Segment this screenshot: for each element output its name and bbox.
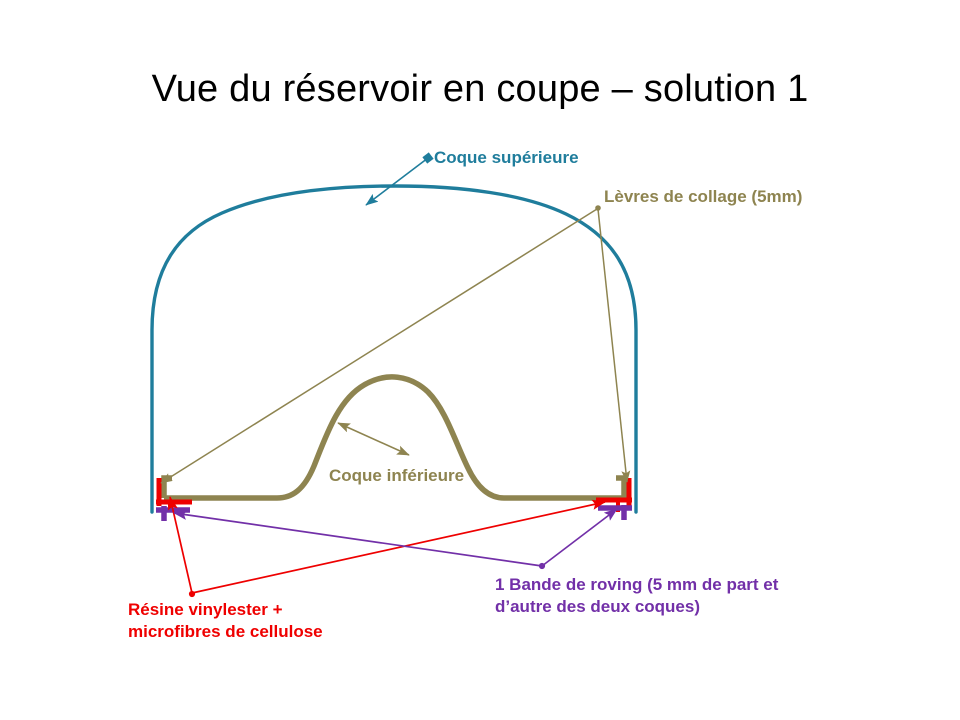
diagram-canvas: Vue du réservoir en coupe – solution 1 xyxy=(0,0,960,720)
leader-levres-collage xyxy=(161,205,627,483)
label-roving-line-1: 1 Bande de roving (5 mm de part et xyxy=(495,574,885,596)
label-levres-de-collage: Lèvres de collage (5mm) xyxy=(604,186,802,208)
label-bande-de-roving: 1 Bande de roving (5 mm de part et d’aut… xyxy=(495,574,885,619)
joint-detail-right xyxy=(596,478,632,520)
label-resine-line-1: Résine vinylester + xyxy=(128,599,428,621)
label-resine-line-2: microfibres de cellulose xyxy=(128,621,428,643)
leader-coque-inferieure xyxy=(338,423,409,455)
coque-superieure-shape xyxy=(152,186,636,512)
leader-coque-superieure xyxy=(366,158,428,205)
label-coque-superieure: Coque supérieure xyxy=(434,147,579,169)
leader-roving xyxy=(174,509,617,569)
label-resine-vinylester: Résine vinylester + microfibres de cellu… xyxy=(128,599,428,644)
label-roving-line-2: d’autre des deux coques) xyxy=(495,596,885,618)
label-coque-inferieure: Coque inférieure xyxy=(329,465,464,487)
